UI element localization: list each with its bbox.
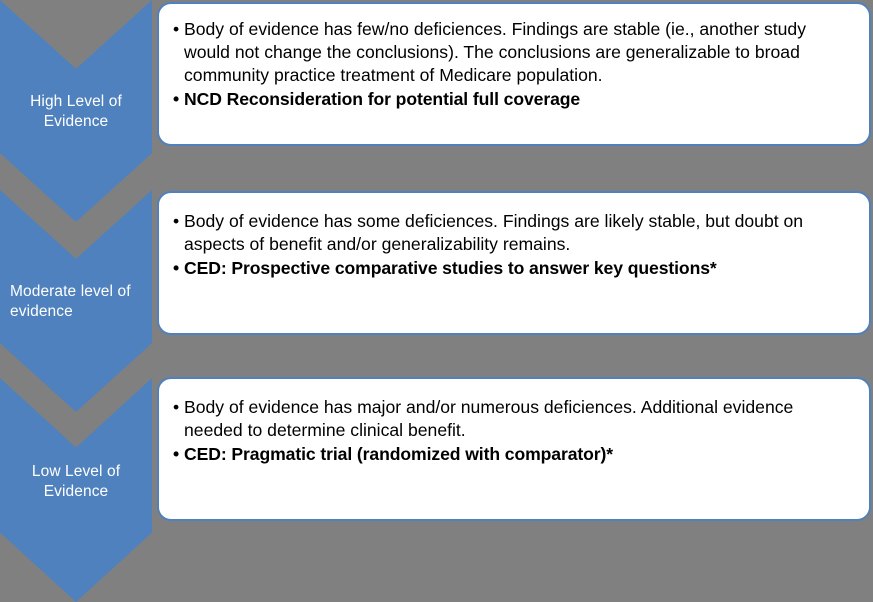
bullet-text: CED: Prospective comparative studies to … — [184, 257, 851, 280]
bullet-marker-icon: • — [173, 257, 184, 280]
chevron-column: High Level of Evidence Moderate level of… — [0, 0, 152, 602]
bullet-text: CED: Pragmatic trial (randomized with co… — [184, 443, 851, 466]
bullet-text: NCD Reconsideration for potential full c… — [184, 88, 851, 111]
bullet-item: • Body of evidence has few/no deficience… — [173, 18, 851, 87]
bullet-item: • Body of evidence has some deficiences.… — [173, 210, 851, 256]
bullet-text: Body of evidence has some deficiences. F… — [184, 210, 851, 256]
callout-low-level-of-evidence: • Body of evidence has major and/or nume… — [157, 377, 871, 521]
bullet-marker-icon: • — [173, 88, 184, 111]
bullet-text: Body of evidence has few/no deficiences.… — [184, 18, 851, 87]
bullet-item: • Body of evidence has major and/or nume… — [173, 396, 851, 442]
bullet-marker-icon: • — [173, 396, 184, 419]
bullet-marker-icon: • — [173, 443, 184, 466]
chevron-label-moderate: Moderate level of evidence — [0, 282, 152, 323]
evidence-level-diagram: High Level of Evidence Moderate level of… — [0, 0, 873, 602]
chevron-label-low: Low Level of Evidence — [0, 462, 152, 503]
bullet-item: • NCD Reconsideration for potential full… — [173, 88, 851, 111]
bullet-item: • CED: Pragmatic trial (randomized with … — [173, 443, 851, 466]
bullet-item: • CED: Prospective comparative studies t… — [173, 257, 851, 280]
callout-high-level-of-evidence: • Body of evidence has few/no deficience… — [157, 2, 871, 146]
callout-moderate-level-of-evidence: • Body of evidence has some deficiences.… — [157, 191, 871, 335]
bullet-marker-icon: • — [173, 18, 184, 41]
chevron-label-high: High Level of Evidence — [0, 92, 152, 133]
bullet-text: Body of evidence has major and/or numero… — [184, 396, 851, 442]
bullet-marker-icon: • — [173, 210, 184, 233]
